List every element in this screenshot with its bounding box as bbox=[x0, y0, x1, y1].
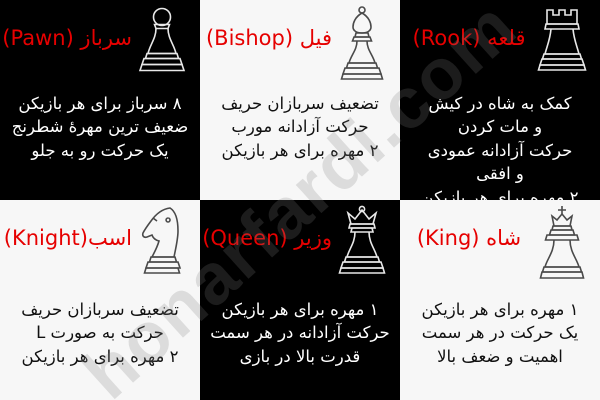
piece-title: فیل (Bishop) bbox=[206, 4, 332, 51]
desc-line: ۸ سرباز برای هر بازیکن bbox=[8, 92, 192, 115]
knight-icon bbox=[132, 204, 192, 280]
desc-line: ۱ مهره برای هر بازیکن bbox=[208, 298, 392, 321]
desc-line: و مات کردن bbox=[408, 115, 592, 138]
bishop-icon bbox=[332, 4, 392, 80]
desc-line: ۱ مهره برای هر بازیکن bbox=[408, 298, 592, 321]
piece-grid: سرباز (Pawn) ۸ سرباز برای هر بازیکن ضعیف… bbox=[0, 0, 600, 400]
desc-line: کمک به شاه در کیش bbox=[408, 92, 592, 115]
piece-description: ۱ مهره برای هر بازیکن حرکت آزادانه در هر… bbox=[200, 284, 400, 400]
pawn-icon bbox=[132, 4, 192, 80]
desc-line: حرکت آزادانه مورب bbox=[208, 115, 392, 138]
piece-card-rook[interactable]: قلعه (Rook) کمک به شاه در کیش و مات کردن… bbox=[400, 0, 600, 200]
piece-description: ۸ سرباز برای هر بازیکن ضعیف ترین مهرهٔ ش… bbox=[0, 84, 200, 200]
card-header: شاه (King) bbox=[400, 204, 600, 282]
piece-card-knight[interactable]: اسب(Knight) تضعیف سربازان حریف حرکت به ص… bbox=[0, 200, 200, 400]
piece-title: شاه (King) bbox=[406, 204, 532, 251]
piece-card-king[interactable]: شاه (King) ۱ مهره برای هر بازیکن یک حرکت… bbox=[400, 200, 600, 400]
card-header: فیل (Bishop) bbox=[200, 4, 400, 82]
desc-line: ضعیف ترین مهرهٔ شطرنج bbox=[8, 115, 192, 138]
piece-description: کمک به شاه در کیش و مات کردن حرکت آزادان… bbox=[400, 84, 600, 200]
desc-line: ۲ مهره برای هر بازیکن bbox=[408, 186, 592, 200]
desc-line: تضعیف سربازان حریف bbox=[8, 298, 192, 321]
card-header: اسب(Knight) bbox=[0, 204, 200, 282]
piece-description: تضعیف سربازان حریف حرکت آزادانه مورب ۲ م… bbox=[200, 84, 400, 200]
piece-title: قلعه (Rook) bbox=[406, 4, 532, 51]
desc-line: اهمیت و ضعف بالا bbox=[408, 345, 592, 368]
rook-icon bbox=[532, 4, 592, 80]
piece-card-queen[interactable]: وزیر (Queen) ۱ مهره برای هر بازیکن حرکت … bbox=[200, 200, 400, 400]
desc-line: ۲ مهره برای هر بازیکن bbox=[8, 345, 192, 368]
card-header: سرباز (Pawn) bbox=[0, 4, 200, 82]
desc-line: و افقی bbox=[408, 162, 592, 185]
piece-title: سرباز (Pawn) bbox=[2, 4, 132, 51]
desc-line: قدرت بالا در بازی bbox=[208, 345, 392, 368]
desc-line: تضعیف سربازان حریف bbox=[208, 92, 392, 115]
piece-card-pawn[interactable]: سرباز (Pawn) ۸ سرباز برای هر بازیکن ضعیف… bbox=[0, 0, 200, 200]
chess-pieces-infographic: سرباز (Pawn) ۸ سرباز برای هر بازیکن ضعیف… bbox=[0, 0, 600, 400]
desc-line: یک حرکت در هر سمت bbox=[408, 321, 592, 344]
piece-title: اسب(Knight) bbox=[4, 204, 132, 251]
desc-line: حرکت آزادانه در هر سمت bbox=[208, 321, 392, 344]
piece-card-bishop[interactable]: فیل (Bishop) تضعیف سربازان حریف حرکت آزا… bbox=[200, 0, 400, 200]
card-header: قلعه (Rook) bbox=[400, 4, 600, 82]
desc-line: ۲ مهره برای هر بازیکن bbox=[208, 139, 392, 162]
piece-title: وزیر (Queen) bbox=[202, 204, 332, 251]
desc-line: یک حرکت رو به جلو bbox=[8, 139, 192, 162]
card-header: وزیر (Queen) bbox=[200, 204, 400, 282]
queen-icon bbox=[332, 204, 392, 280]
king-icon bbox=[532, 204, 592, 280]
desc-line: حرکت آزادانه عمودی bbox=[408, 139, 592, 162]
desc-line: حرکت به صورت L bbox=[8, 321, 192, 344]
piece-description: تضعیف سربازان حریف حرکت به صورت L ۲ مهره… bbox=[0, 284, 200, 400]
piece-description: ۱ مهره برای هر بازیکن یک حرکت در هر سمت … bbox=[400, 284, 600, 400]
